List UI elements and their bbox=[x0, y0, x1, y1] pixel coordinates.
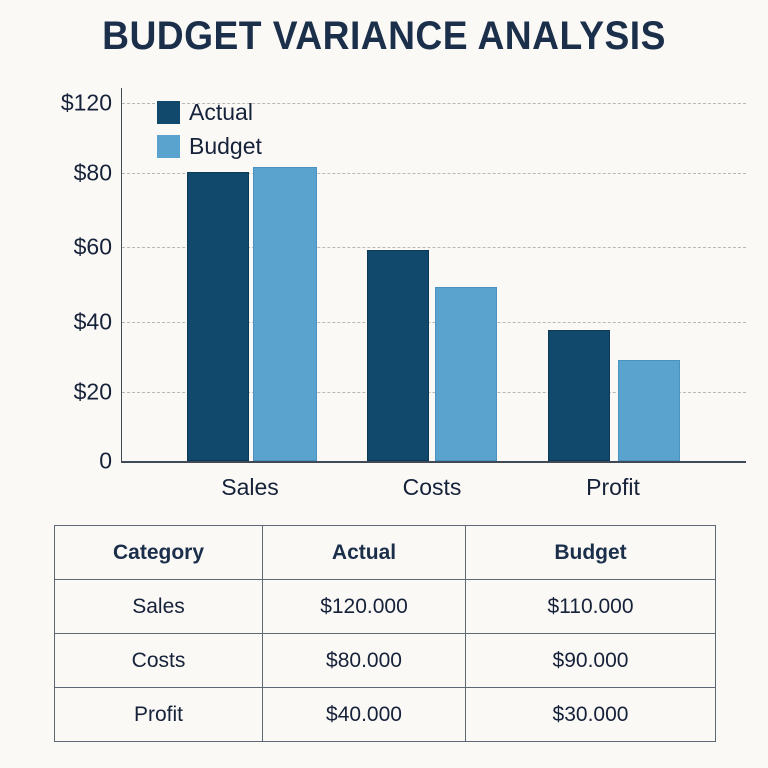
table-cell-budget: $30.000 bbox=[466, 688, 716, 742]
x-tick-label-profit: Profit bbox=[586, 474, 640, 501]
table-cell-budget: $90.000 bbox=[466, 634, 716, 688]
table-cell-actual: $120.000 bbox=[263, 580, 466, 634]
legend-item-budget[interactable]: Budget bbox=[157, 129, 262, 163]
x-tick-label-costs: Costs bbox=[403, 474, 462, 501]
legend-label-budget: Budget bbox=[189, 133, 262, 160]
legend-label-actual: Actual bbox=[189, 99, 253, 126]
table-row: Sales $120.000 $110.000 bbox=[55, 580, 716, 634]
x-tick-label-sales: Sales bbox=[221, 474, 279, 501]
legend-swatch-actual-icon bbox=[157, 101, 180, 124]
bars-layer bbox=[0, 88, 768, 461]
table-cell-category: Sales bbox=[55, 580, 263, 634]
page-title: BUDGET VARIANCE ANALYSIS bbox=[27, 14, 741, 59]
bar-costs-actual[interactable] bbox=[367, 250, 429, 461]
chart-legend: Actual Budget bbox=[157, 95, 262, 163]
bar-sales-actual[interactable] bbox=[187, 172, 249, 461]
table-cell-category: Costs bbox=[55, 634, 263, 688]
table-cell-actual: $80.000 bbox=[263, 634, 466, 688]
bar-sales-budget[interactable] bbox=[253, 167, 317, 461]
table-row: Profit $40.000 $30.000 bbox=[55, 688, 716, 742]
bar-profit-actual[interactable] bbox=[548, 330, 610, 461]
table-row: Costs $80.000 $90.000 bbox=[55, 634, 716, 688]
table-header-budget: Budget bbox=[466, 526, 716, 580]
table-header-row: Category Actual Budget bbox=[55, 526, 716, 580]
bar-costs-budget[interactable] bbox=[435, 287, 497, 461]
table-cell-category: Profit bbox=[55, 688, 263, 742]
legend-item-actual[interactable]: Actual bbox=[157, 95, 262, 129]
data-table: Category Actual Budget Sales $120.000 $1… bbox=[54, 525, 716, 742]
bar-profit-budget[interactable] bbox=[618, 360, 680, 461]
table-cell-budget: $110.000 bbox=[466, 580, 716, 634]
x-axis-line bbox=[121, 461, 746, 463]
table-header-category: Category bbox=[55, 526, 263, 580]
legend-swatch-budget-icon bbox=[157, 135, 180, 158]
table-header-actual: Actual bbox=[263, 526, 466, 580]
table-cell-actual: $40.000 bbox=[263, 688, 466, 742]
